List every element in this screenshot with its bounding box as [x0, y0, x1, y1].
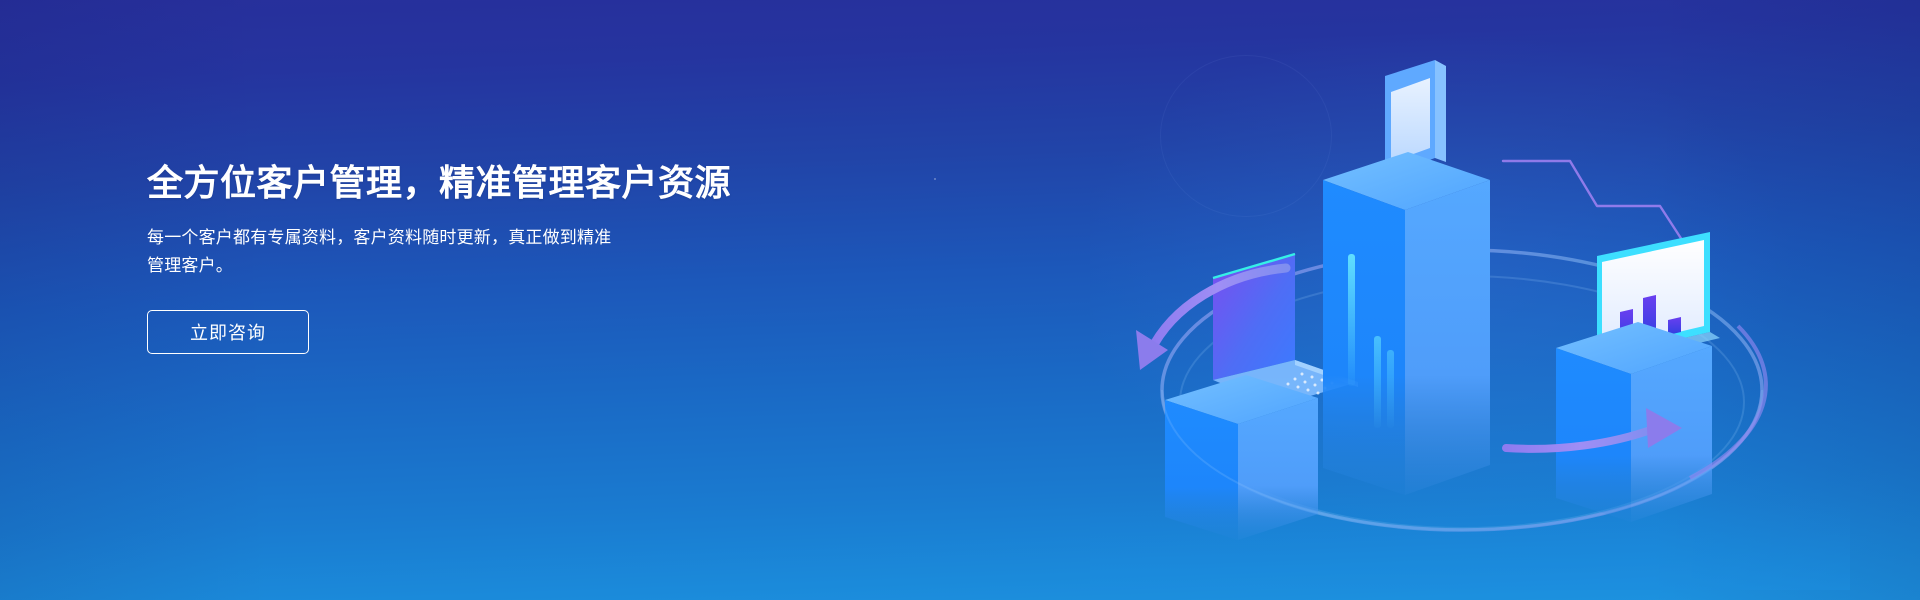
center-column — [1323, 60, 1490, 495]
copy-block: 全方位客户管理，精准管理客户资源 每一个客户都有专属资料，客户资料随时更新，真正… — [147, 160, 787, 354]
isometric-illustration — [1090, 30, 1850, 590]
page-title: 全方位客户管理，精准管理客户资源 — [147, 160, 787, 206]
consult-now-button[interactable]: 立即咨询 — [147, 310, 309, 354]
decorative-dot — [934, 178, 936, 180]
hero-banner: 全方位客户管理，精准管理客户资源 每一个客户都有专属资料，客户资料随时更新，真正… — [0, 0, 1920, 600]
connector-line — [1503, 161, 1684, 243]
page-subtitle: 每一个客户都有专属资料，客户资料随时更新，真正做到精准管理客户。 — [147, 224, 627, 280]
